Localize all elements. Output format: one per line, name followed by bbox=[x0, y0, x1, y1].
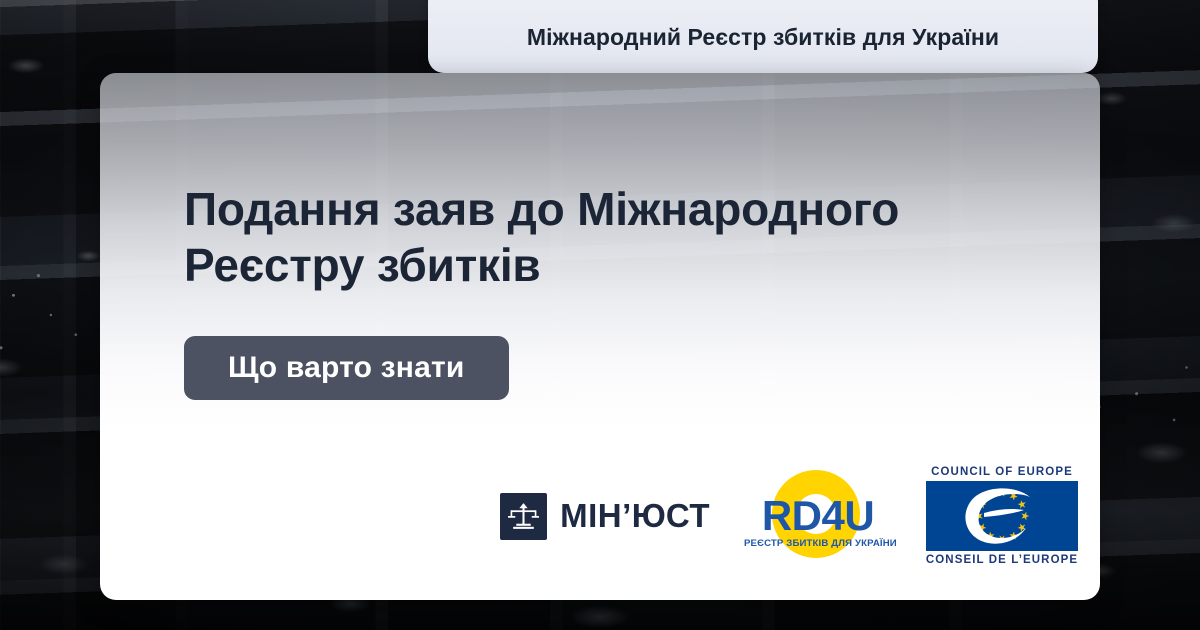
council-of-europe-e-emblem bbox=[926, 481, 1078, 551]
scales-of-justice-icon bbox=[500, 493, 547, 540]
main-card: Подання заяв до Міжнародного Реєстру зби… bbox=[100, 73, 1100, 600]
rd4u-subtitle: РЕЄСТР ЗБИТКІВ ДЛЯ УКРАЇНИ bbox=[744, 538, 892, 549]
coe-e-crossbar bbox=[984, 509, 1024, 517]
coe-caption-top: COUNCIL OF EUROPE bbox=[931, 466, 1073, 478]
header-tab: Міжнародний Реєстр збитків для України bbox=[428, 0, 1098, 73]
logo-ministry-of-justice[interactable]: МІН’ЮСТ bbox=[500, 493, 710, 540]
page-title: Подання заяв до Міжнародного Реєстру зби… bbox=[184, 181, 1014, 293]
coe-caption-bottom: CONSEIL DE L’EUROPE bbox=[926, 554, 1078, 566]
coe-e-swoosh bbox=[965, 488, 1030, 543]
main-card-inner: Подання заяв до Міжнародного Реєстру зби… bbox=[100, 73, 1100, 600]
rd4u-lettermark: RD4U bbox=[744, 495, 892, 537]
ministry-of-justice-wordmark: МІН’ЮСТ bbox=[560, 497, 710, 535]
logo-rd4u[interactable]: RD4U РЕЄСТР ЗБИТКІВ ДЛЯ УКРАЇНИ bbox=[744, 468, 892, 564]
header-title: Міжнародний Реєстр збитків для України bbox=[527, 24, 999, 73]
logo-council-of-europe[interactable]: COUNCIL OF EUROPE bbox=[926, 466, 1078, 566]
logo-row: МІН’ЮСТ RD4U РЕЄСТР ЗБИТКІВ ДЛЯ УКРАЇНИ … bbox=[500, 466, 1078, 566]
banner-stage: Міжнародний Реєстр збитків для України П… bbox=[0, 0, 1200, 630]
what-to-know-button[interactable]: Що варто знати bbox=[184, 336, 509, 400]
coe-flag bbox=[926, 481, 1078, 551]
